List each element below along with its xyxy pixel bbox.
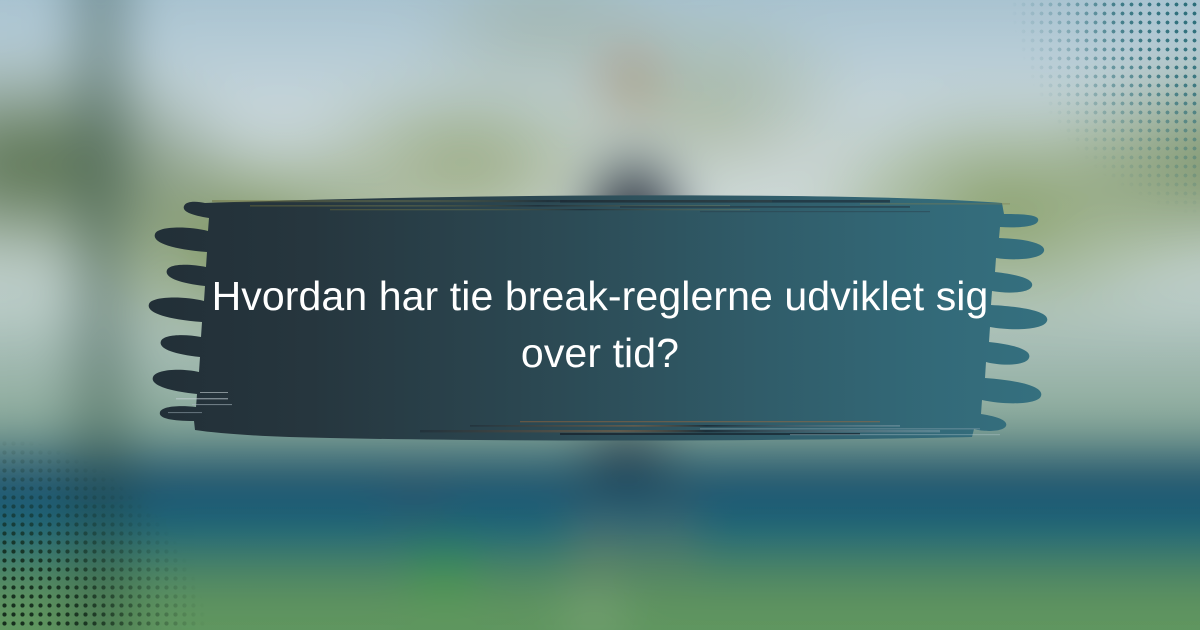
social-card: Hvordan har tie break-reglerne udviklet … <box>0 0 1200 630</box>
card-headline: Hvordan har tie break-reglerne udviklet … <box>190 268 1010 382</box>
